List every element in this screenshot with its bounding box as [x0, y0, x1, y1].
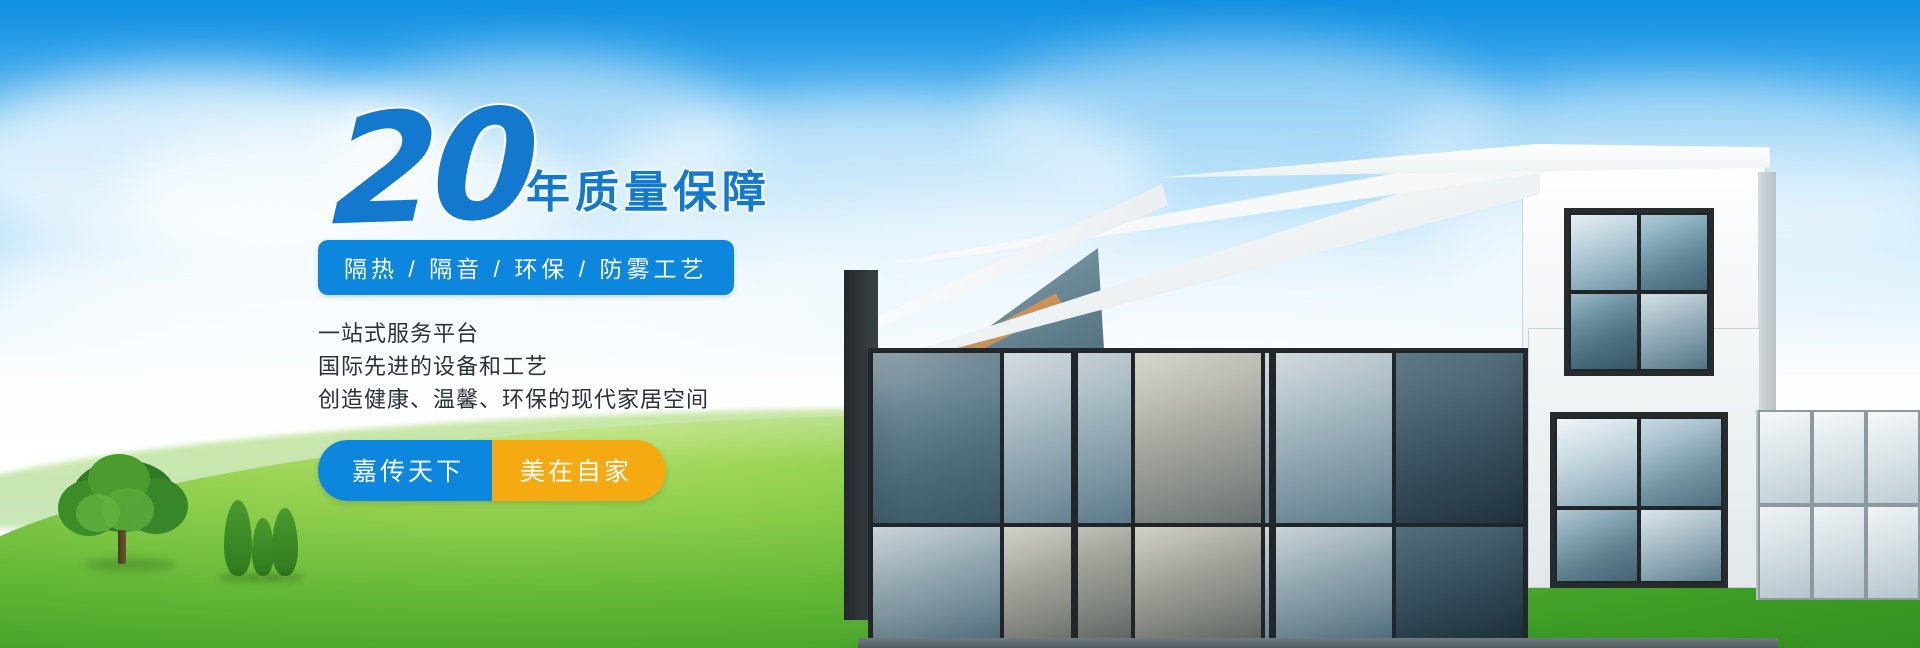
slogan-secondary-text[interactable]: 美在自家 [492, 440, 666, 501]
front-glass-wall [868, 348, 1528, 648]
lower-side-window [1550, 412, 1728, 588]
cypress-tree-icon [224, 500, 252, 576]
description-block: 一站式服务平台 国际先进的设备和工艺 创造健康、温馨、环保的现代家居空间 [318, 317, 958, 416]
description-line: 国际先进的设备和工艺 [318, 350, 958, 383]
years-number: 20 [330, 89, 535, 248]
headline-suffix-text: 年质量保障 [526, 156, 771, 220]
headline-group: 20 年质量保障 [318, 96, 958, 226]
promo-banner: 20 年质量保障 隔热 / 隔音 / 环保 / 防雾工艺 一站式服务平台 国际先… [0, 0, 1920, 648]
description-line: 一站式服务平台 [318, 317, 958, 350]
banner-copy-block: 20 年质量保障 隔热 / 隔音 / 环保 / 防雾工艺 一站式服务平台 国际先… [318, 96, 958, 501]
adjacent-conservatory [1756, 410, 1920, 600]
sunroom-building-illustration [828, 120, 1920, 648]
cypress-tree-icon [272, 508, 298, 576]
tree-icon [58, 454, 188, 564]
cypress-tree-icon [252, 518, 274, 576]
description-line: 创造健康、温馨、环保的现代家居空间 [318, 383, 958, 416]
upper-gable-window [1564, 208, 1714, 376]
slogan-primary-text[interactable]: 嘉传天下 [318, 440, 492, 501]
slogan-button[interactable]: 嘉传天下 美在自家 [318, 440, 666, 501]
